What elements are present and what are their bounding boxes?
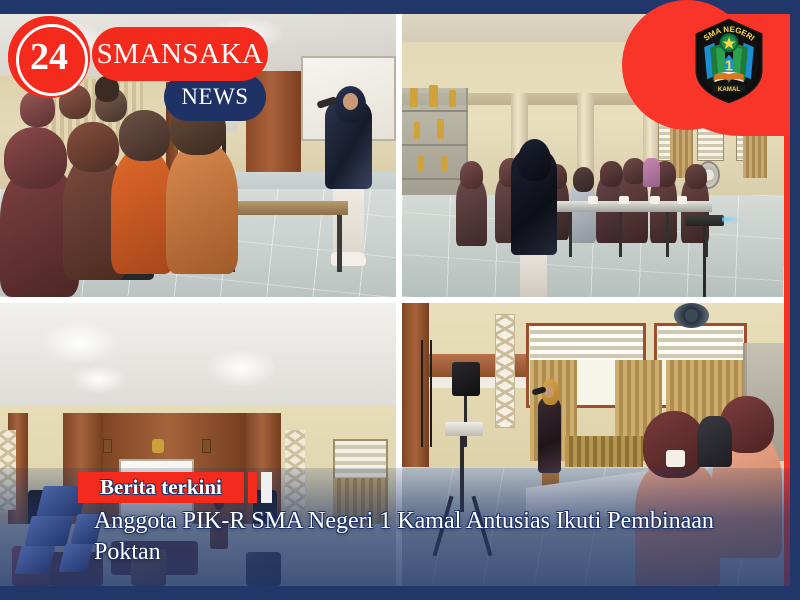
badge-brand-label: SMANSAKA: [97, 38, 264, 71]
crest-ribbon-text: KAMAL: [718, 86, 741, 93]
photo-bottom-right: [402, 303, 790, 586]
badge-brand-pill: SMANSAKA: [92, 27, 268, 81]
photo-bottom-left-image: [0, 303, 396, 586]
badge-section-label: NEWS: [181, 84, 248, 110]
badge-number-circle: 24: [8, 16, 90, 98]
photo-bottom-left: [0, 303, 396, 586]
school-crest-icon: SMA NEGERI 1 KAMAL: [692, 18, 766, 104]
news-poster: 24 SMANSAKA NEWS SMA NEGERI: [0, 0, 800, 600]
photo-bottom-right-image: [402, 303, 790, 586]
badge-number: 24: [30, 38, 68, 76]
